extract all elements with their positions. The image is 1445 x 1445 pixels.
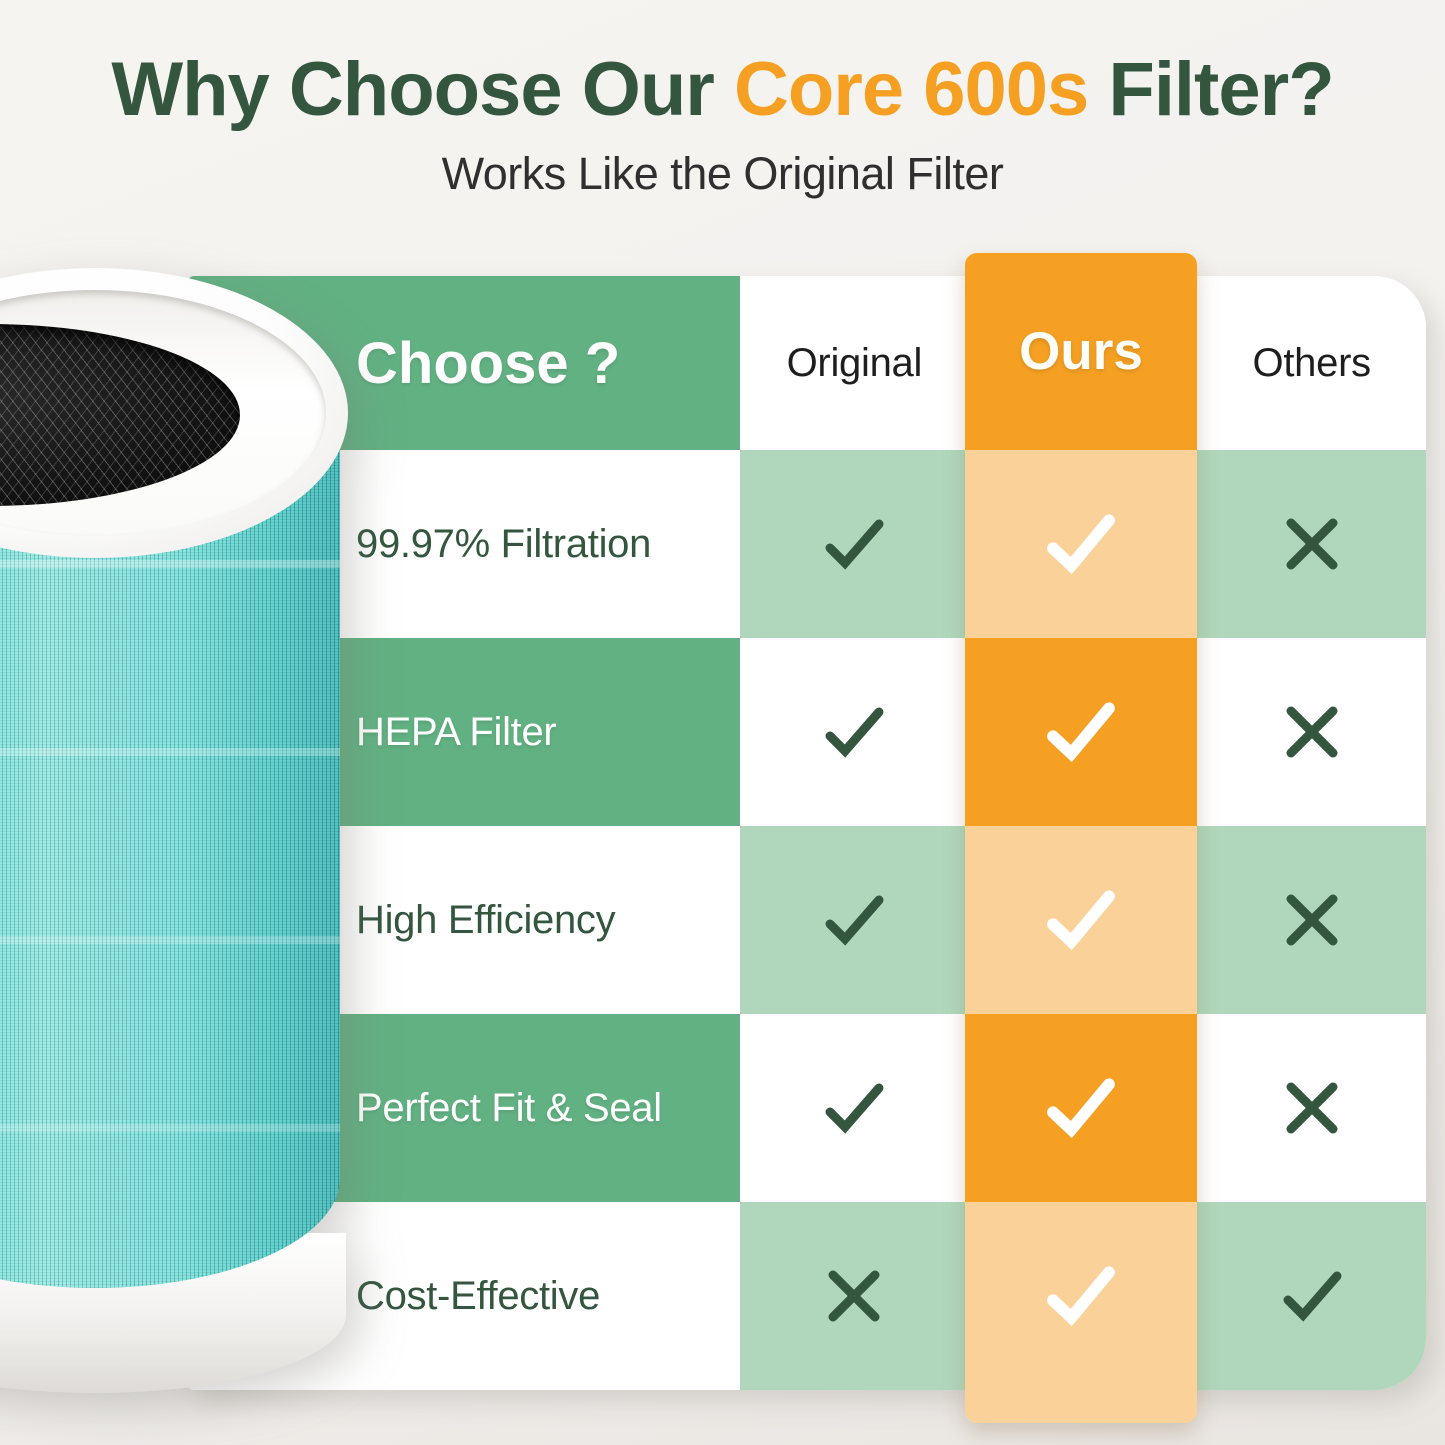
cell-others-filtration [1197,450,1426,638]
check-icon [1038,689,1124,775]
cell-others-hepa [1197,638,1426,826]
comparison-table: Choose ? Original Others 99.97% Filtrati… [188,276,1426,1390]
check-icon [1038,501,1124,587]
product-filter-image [0,268,350,1378]
check-icon [814,880,894,960]
check-icon [1038,1253,1124,1339]
cell-ours-cost-effective [965,1202,1197,1390]
cell-original-cost-effective [740,1202,969,1390]
cell-original-filtration [740,450,969,638]
cell-original-efficiency [740,826,969,1014]
cell-ours-hepa [965,638,1197,826]
page-subtitle: Works Like the Original Filter [0,148,1445,200]
cross-icon [1272,1068,1352,1148]
ours-column-tail [965,1390,1197,1423]
cell-ours-efficiency [965,826,1197,1014]
table-row: Perfect Fit & Seal [188,1014,1426,1202]
table-header-row: Choose ? Original Others [188,276,1426,450]
header-col-original: Original [740,276,969,450]
check-icon [814,504,894,584]
table-row: High Efficiency [188,826,1426,1014]
cross-icon [814,1256,894,1336]
cell-ours-filtration [965,450,1197,638]
check-icon [1272,1256,1352,1336]
check-icon [1038,1065,1124,1151]
table-row: Cost-Effective [188,1202,1426,1390]
page-title: Why Choose Our Core 600s Filter? [0,52,1445,128]
cross-icon [1272,692,1352,772]
cell-others-cost-effective [1197,1202,1426,1390]
cross-icon [1272,504,1352,584]
table-row: 99.97% Filtration [188,450,1426,638]
header-col-ours: Ours [965,253,1197,450]
highlighted-ours-column: Ours [965,253,1197,1423]
cell-ours-fit-seal [965,1014,1197,1202]
title-part-2: Filter? [1088,47,1333,132]
header-col-others: Others [1197,276,1426,450]
check-icon [1038,877,1124,963]
check-icon [814,1068,894,1148]
cell-others-fit-seal [1197,1014,1426,1202]
cross-icon [1272,880,1352,960]
heading-block: Why Choose Our Core 600s Filter? Works L… [0,52,1445,200]
cell-original-fit-seal [740,1014,969,1202]
cell-others-efficiency [1197,826,1426,1014]
title-part-1: Why Choose Our [111,47,734,132]
title-highlight-model: Core 600s [734,47,1088,132]
cell-original-hepa [740,638,969,826]
check-icon [814,692,894,772]
table-row: HEPA Filter [188,638,1426,826]
